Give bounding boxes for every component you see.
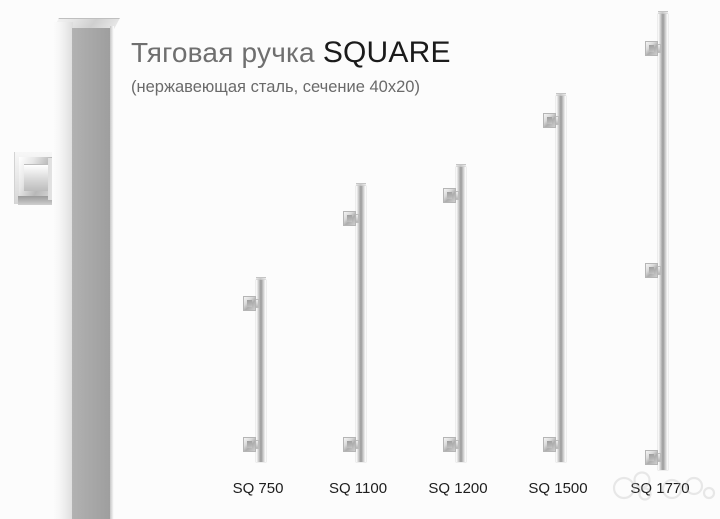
size-label: SQ 750 [208, 480, 308, 497]
product-image: Тяговая ручка SQUARE (нержавеющая сталь,… [0, 0, 720, 519]
size-label: SQ 1200 [408, 480, 508, 497]
page-title: Тяговая ручка SQUARE [131, 36, 551, 70]
title-text-ru: Тяговая ручка [131, 37, 323, 68]
size-label: SQ 1100 [308, 480, 408, 497]
handle-wall-bracket [443, 437, 456, 452]
subtitle: (нержавеющая сталь, сечение 40x20) [131, 77, 551, 98]
handle-wall-bracket [443, 188, 456, 203]
handle-wall-bracket [645, 41, 658, 56]
title-text-en: SQUARE [323, 36, 451, 69]
handle-bar [356, 186, 366, 462]
size-label: SQ 1500 [508, 480, 608, 497]
main-handle-front-face [72, 28, 113, 519]
main-handle-right-edge [110, 26, 114, 519]
handle-wall-bracket [645, 450, 658, 465]
handle-bar [556, 96, 566, 462]
handle-wall-bracket [543, 113, 556, 128]
main-handle-illustration [0, 0, 140, 519]
handle-wall-bracket [645, 263, 658, 278]
main-handle-left-face [52, 22, 73, 519]
handle-bar [456, 167, 466, 462]
handle-wall-bracket [543, 437, 556, 452]
title-block: Тяговая ручка SQUARE (нержавеющая сталь,… [131, 36, 551, 98]
handle-wall-bracket [343, 437, 356, 452]
size-label: SQ 1770 [610, 480, 710, 497]
handle-bar [658, 14, 668, 470]
handle-wall-bracket [243, 437, 256, 452]
handle-wall-bracket [343, 211, 356, 226]
handle-wall-bracket [243, 296, 256, 311]
